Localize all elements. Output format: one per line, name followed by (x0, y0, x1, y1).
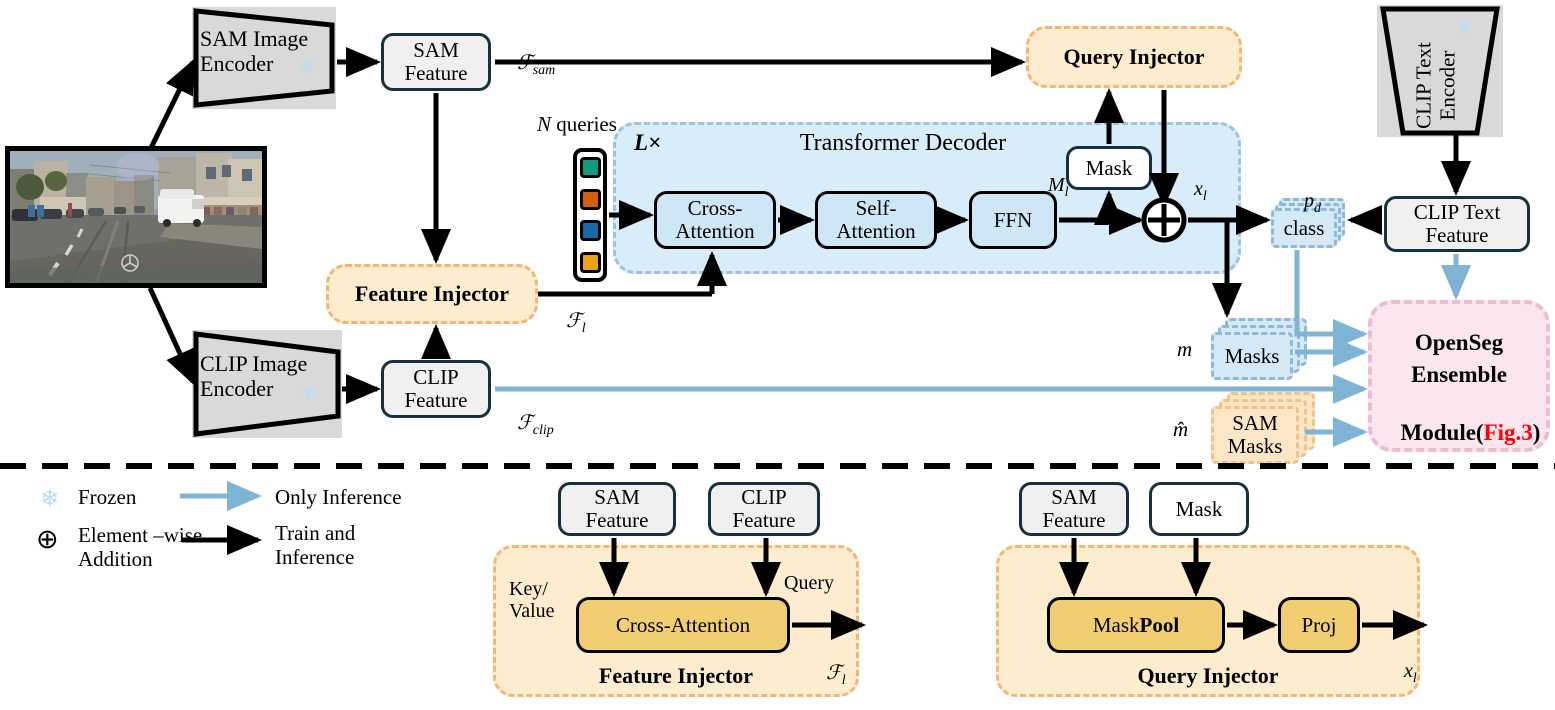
detail-fi-cross-attention[interactable]: Cross-Attention (576, 597, 790, 653)
query-token-1 (580, 157, 601, 178)
openseg-module-prefix: Module( (1401, 420, 1484, 445)
openseg-line2: Ensemble (1368, 362, 1550, 388)
decoder-repeat-label: L× (634, 130, 661, 156)
detail-query-injector-title: Query Injector (996, 664, 1420, 689)
decoder-block-self-attention[interactable]: Self- Attention (815, 191, 937, 249)
sam-masks-label: SAM Masks (1211, 406, 1299, 464)
clip-image-encoder-label: CLIP Image Encoder (200, 352, 340, 401)
figure-canvas: SAM Image Encoder ❄ CLIP Image Encoder ❄… (0, 0, 1555, 710)
detail-qi-input-sam-feature[interactable]: SAM Feature (1019, 482, 1129, 536)
openseg-module-suffix: ) (1533, 420, 1541, 445)
sam-feature-box[interactable]: SAM Feature (381, 33, 491, 91)
detail-qi-output-symbol: xl (1384, 638, 1417, 709)
m-symbol: m (1177, 338, 1192, 362)
clip-text-encoder-label: CLIP Text Encoder (1412, 6, 1459, 166)
n-queries-label: N queries (537, 113, 617, 137)
detail-feature-injector-title: Feature Injector (493, 664, 859, 689)
f-sam-symbol: ℱsam (497, 30, 555, 101)
detail-fi-query-label: Query (784, 572, 834, 594)
input-image (5, 146, 267, 288)
legend-snowflake-icon: ❄ (40, 487, 59, 510)
detail-fi-input-sam-feature[interactable]: SAM Feature (558, 482, 676, 536)
snowflake-icon-sam: ❄ (298, 57, 315, 77)
detail-qi-mask-pool-prefix: Mask (1093, 614, 1140, 637)
openseg-line3: Module(Fig.3) (1368, 394, 1550, 471)
snowflake-icon-text: ❄ (1456, 18, 1472, 37)
masks-stack: Masks (1211, 318, 1311, 380)
snowflake-icon-clip: ❄ (300, 384, 317, 404)
query-token-3 (580, 220, 601, 241)
legend-frozen-label: Frozen (78, 486, 136, 510)
detail-qi-mask-pool-bold: Pool (1140, 614, 1180, 637)
detail-qi-input-mask[interactable]: Mask (1149, 482, 1249, 536)
x-l-symbol: xl (1174, 156, 1207, 227)
sam-masks-stack: SAM Masks (1211, 392, 1321, 464)
m-l-symbol: Ml (1028, 152, 1069, 223)
legend-elementwise-label: Element –wise Addition (78, 524, 202, 571)
p-d-symbol: pd (1284, 168, 1321, 239)
mask-box[interactable]: Mask (1066, 146, 1152, 190)
openseg-line1: OpenSeg (1368, 330, 1550, 356)
detail-qi-proj[interactable]: Proj (1278, 597, 1360, 653)
clip-text-feature-box[interactable]: CLIP Text Feature (1384, 196, 1530, 252)
openseg-fig-ref[interactable]: Fig.3 (1484, 420, 1533, 445)
f-clip-symbol: ℱclip (497, 390, 554, 461)
query-token-4 (580, 252, 601, 273)
m-hat-symbol: m̂ (1173, 418, 1188, 442)
f-l-symbol-main: ℱl (546, 288, 586, 359)
detail-fi-input-clip-feature[interactable]: CLIP Feature (708, 482, 820, 536)
decoder-title: Transformer Decoder (738, 130, 1068, 157)
decoder-block-cross-attention[interactable]: Cross- Attention (654, 191, 776, 249)
query-injector-label: Query Injector (1026, 45, 1242, 70)
clip-feature-box[interactable]: CLIP Feature (381, 360, 491, 418)
legend-train-inference-label: Train and Inference (275, 522, 355, 569)
masks-label: Masks (1211, 332, 1293, 380)
query-token-strip (573, 148, 607, 282)
feature-injector-label: Feature Injector (326, 282, 538, 307)
detail-fi-output-symbol: ℱl (806, 640, 846, 710)
query-token-2 (580, 189, 601, 210)
legend-only-inference-label: Only Inference (275, 486, 402, 510)
legend-plus-icon: ⊕ (36, 524, 59, 554)
detail-qi-mask-pool[interactable]: Mask Pool (1047, 597, 1225, 653)
detail-fi-key-value-label: Key/ Value (509, 578, 555, 623)
